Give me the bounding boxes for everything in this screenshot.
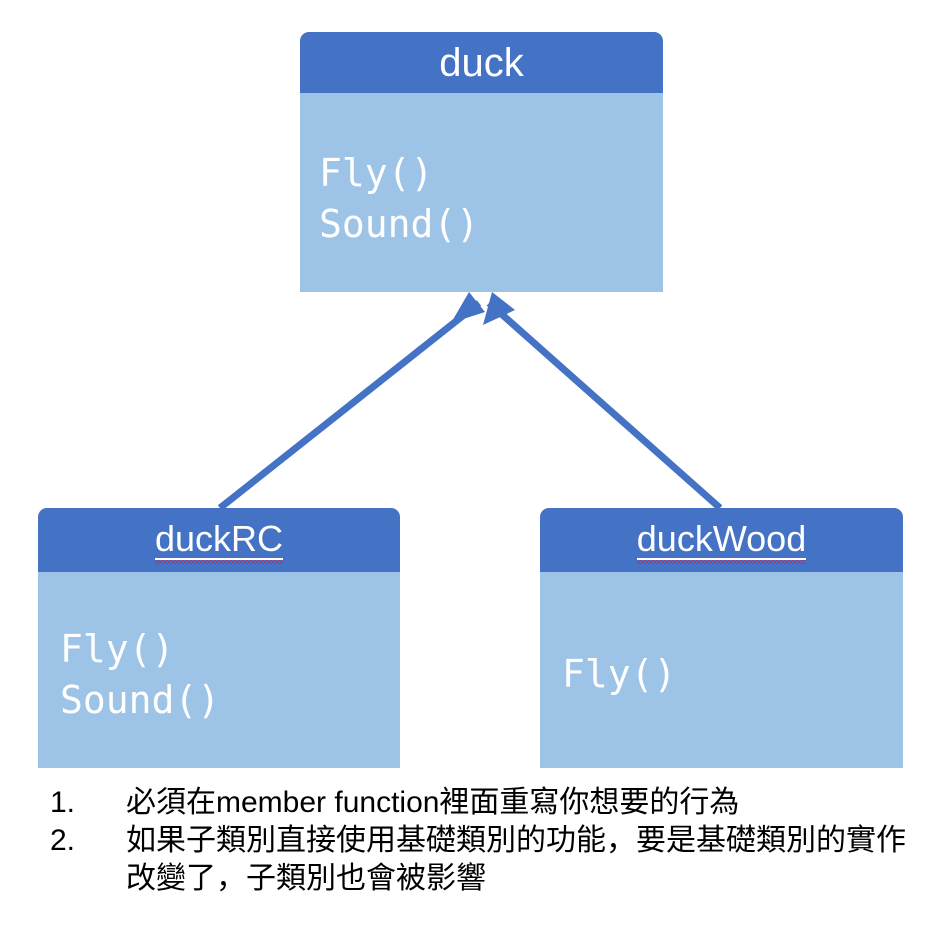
list-item-text: 如果子類別直接使用基礎類別的功能，要是基礎類別的實作改變了，子類別也會被影響 xyxy=(126,822,930,898)
class-title-duckrc-text: duckRC xyxy=(155,518,283,559)
arrowhead-icon xyxy=(483,292,515,325)
spellcheck-squiggle-icon xyxy=(637,560,806,564)
class-method: Fly() xyxy=(319,148,663,199)
class-body-duckwood: Fly() xyxy=(540,572,903,768)
class-title-duckwood-text: duckWood xyxy=(637,518,806,559)
list-item-number: 1. xyxy=(50,784,126,822)
list-item: 1. 必須在member function裡面重寫你想要的行為 xyxy=(50,784,930,822)
connector-duckrc-to-duck xyxy=(220,292,485,508)
notes-list: 1. 必須在member function裡面重寫你想要的行為 2. 如果子類別… xyxy=(50,784,930,898)
class-header-duckrc: duckRC xyxy=(38,508,400,572)
class-title-duckwood: duckWood xyxy=(637,521,806,560)
spellcheck-squiggle-icon xyxy=(155,560,283,564)
class-body-duck: Fly() Sound() xyxy=(300,93,663,292)
class-title-duck: duck xyxy=(439,43,524,83)
class-method: Sound() xyxy=(319,199,663,250)
class-method: Sound() xyxy=(60,675,400,726)
class-method: Fly() xyxy=(562,649,903,700)
class-method: Fly() xyxy=(60,624,400,675)
connector-duckwood-to-duck xyxy=(483,292,720,508)
list-item-number: 2. xyxy=(50,822,126,860)
list-item-text: 必須在member function裡面重寫你想要的行為 xyxy=(126,784,930,822)
arrowhead-icon xyxy=(451,292,485,323)
class-header-duckwood: duckWood xyxy=(540,508,903,572)
class-header-duck: duck xyxy=(300,32,663,93)
class-box-duck[interactable]: duck Fly() Sound() xyxy=(300,32,663,292)
class-body-duckrc: Fly() Sound() xyxy=(38,572,400,768)
class-title-duckrc: duckRC xyxy=(155,521,283,560)
class-box-duckrc[interactable]: duckRC Fly() Sound() xyxy=(38,508,400,768)
class-box-duckwood[interactable]: duckWood Fly() xyxy=(540,508,903,768)
list-item: 2. 如果子類別直接使用基礎類別的功能，要是基礎類別的實作改變了，子類別也會被影… xyxy=(50,822,930,898)
